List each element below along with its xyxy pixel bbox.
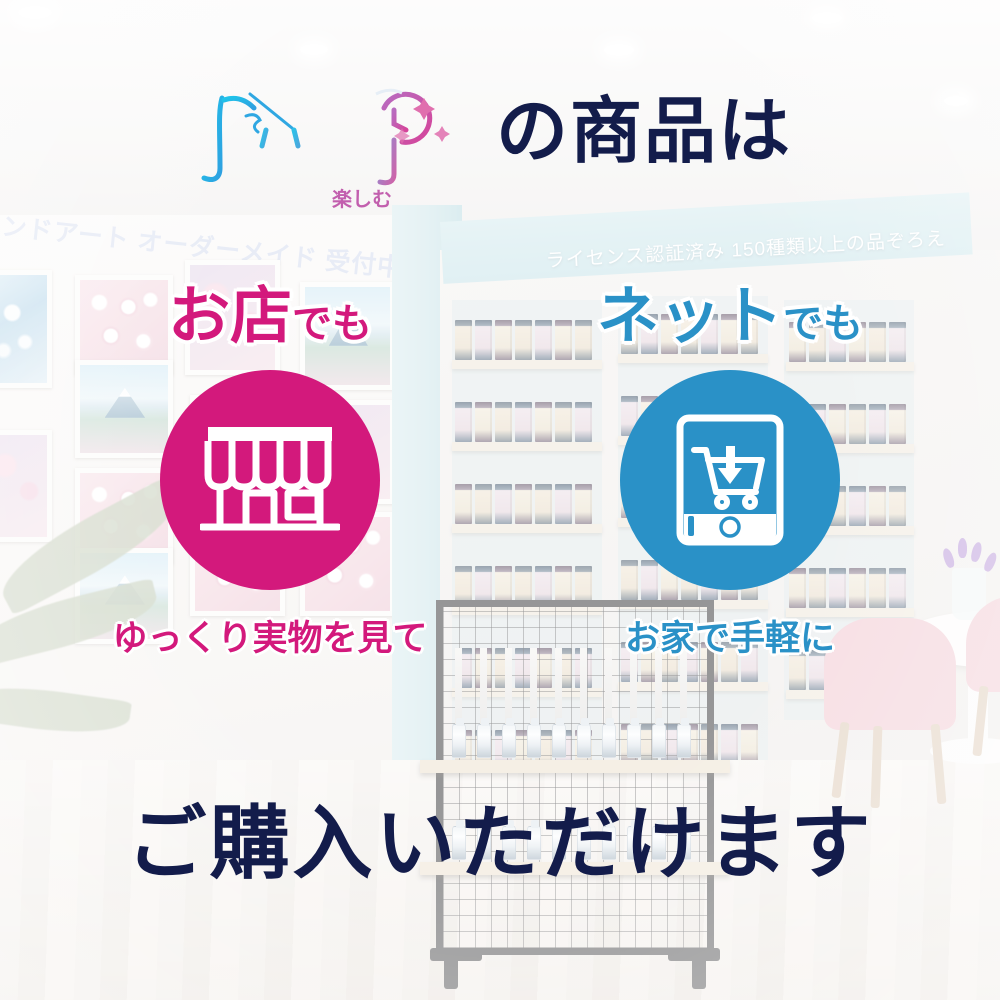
closing-statement: ご購入いただけます [0, 800, 1000, 888]
logo-needle [246, 94, 292, 132]
feature-store-icon-circle [160, 370, 380, 590]
promo-banner: モンドアート オーダーメイド 受付中 ライセンス認証済み 150種類以上の品ぞろ… [0, 0, 1000, 1000]
feature-online-heading-suffix: でも [783, 302, 863, 346]
page-title: の商品は [496, 96, 792, 168]
feature-store-heading-suffix: でも [292, 302, 372, 346]
feature-online-caption: お家で手軽に [550, 610, 910, 661]
feature-online-icon-circle [620, 370, 840, 590]
feature-online: ネットでも [550, 286, 910, 661]
overlay-content: 楽しむ の商品は お店でも [0, 0, 1000, 1000]
feature-online-heading: ネットでも [550, 286, 910, 348]
feature-online-heading-main: ネット [597, 282, 783, 351]
brand-logo-svg: 楽しむ [188, 72, 488, 212]
storefront-icon [200, 417, 340, 543]
feature-store-heading-main: お店 [168, 282, 292, 351]
mobile-cart-icon [670, 410, 790, 550]
logo-char-te [194, 98, 254, 180]
logo-subtitle: 楽しむ [332, 187, 392, 211]
brand-logo: 楽しむ [188, 72, 488, 212]
logo-char-ji [324, 108, 414, 183]
logo-char-gei [250, 130, 310, 198]
feature-store-heading: お店でも [90, 286, 450, 348]
feature-store: お店でも [90, 286, 450, 661]
feature-store-caption: ゆっくり実物を見て [90, 610, 450, 661]
